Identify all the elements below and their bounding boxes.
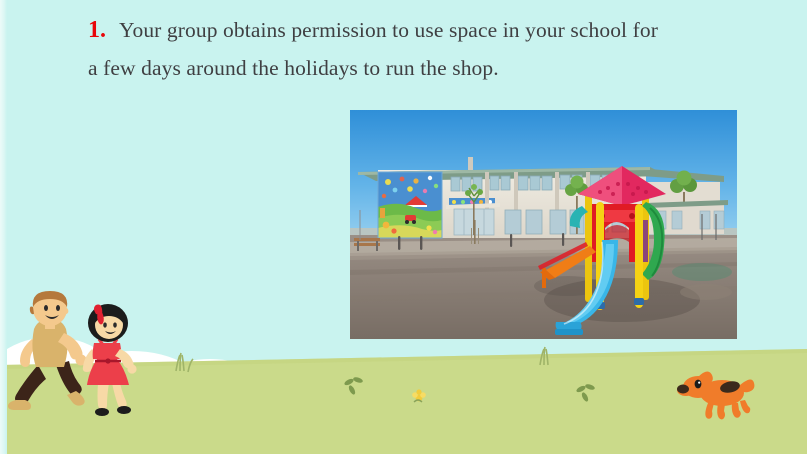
body-text-block: 1.Your group obtains permission to use s… [88, 11, 760, 87]
list-number: 1. [88, 17, 106, 43]
text-line-1-content: Your group obtains permission to use spa… [119, 18, 658, 42]
left-edge-strip [0, 0, 7, 454]
text-line-1: 1.Your group obtains permission to use s… [88, 11, 760, 49]
text-line-2: a few days around the holidays to run th… [88, 49, 760, 87]
school-photo [350, 110, 737, 339]
school-photo-graphic [350, 110, 737, 339]
slide-canvas: 1.Your group obtains permission to use s… [0, 0, 807, 454]
